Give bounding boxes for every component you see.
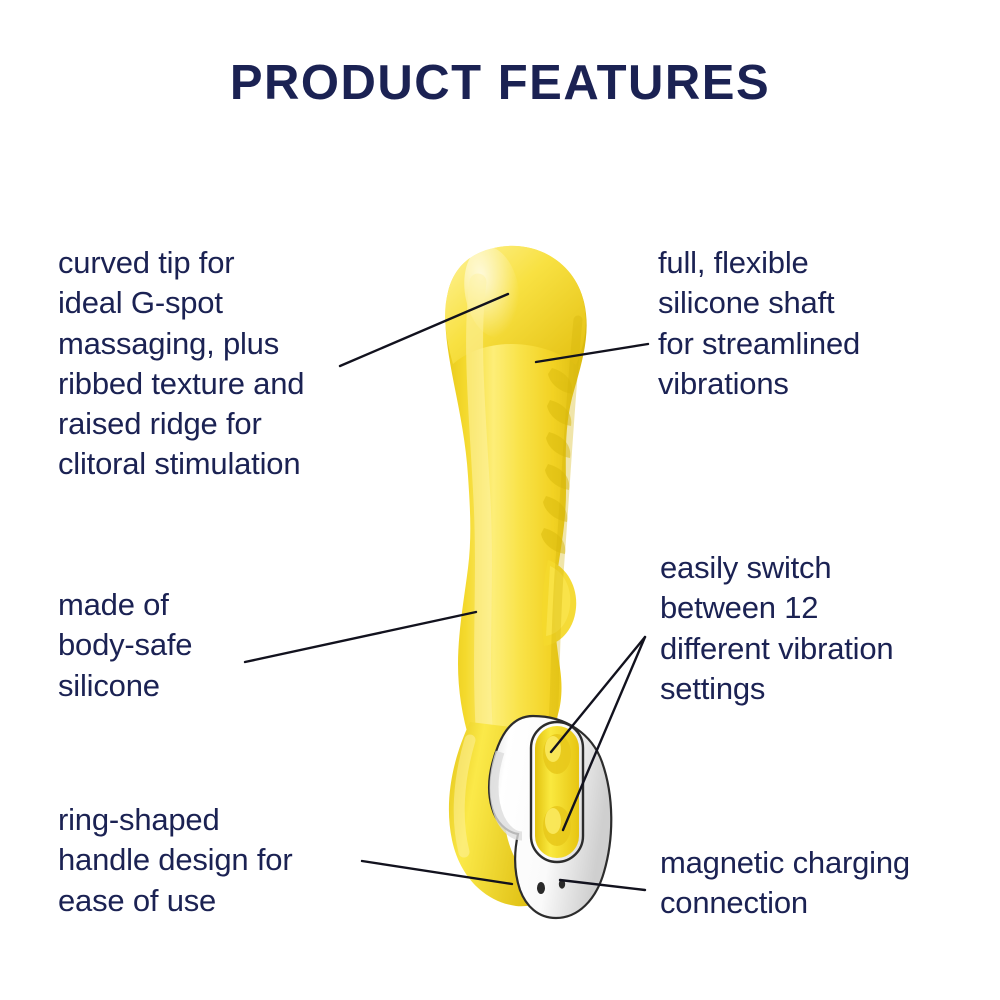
callout-vibration-settings: easily switch between 12 different vibra… bbox=[660, 548, 980, 709]
shaft-highlight bbox=[475, 282, 484, 726]
button-upper[interactable] bbox=[543, 734, 571, 774]
product-features-infographic: PRODUCT FEATURES bbox=[0, 0, 1000, 1000]
ring-handle bbox=[449, 716, 611, 918]
callout-silicone-shaft: full, flexible silicone shaft for stream… bbox=[658, 243, 968, 404]
callout-curved-tip: curved tip for ideal G-spot massaging, p… bbox=[58, 243, 388, 485]
callout-ring-shaped-handle: ring-shaped handle design for ease of us… bbox=[58, 800, 388, 921]
callout-body-safe-silicone: made of body-safe silicone bbox=[58, 585, 358, 706]
callout-magnetic-charging: magnetic charging connection bbox=[660, 843, 980, 924]
leader-line-button-upper bbox=[551, 637, 645, 752]
product-shaft bbox=[445, 242, 587, 742]
button-lower[interactable] bbox=[543, 806, 571, 846]
